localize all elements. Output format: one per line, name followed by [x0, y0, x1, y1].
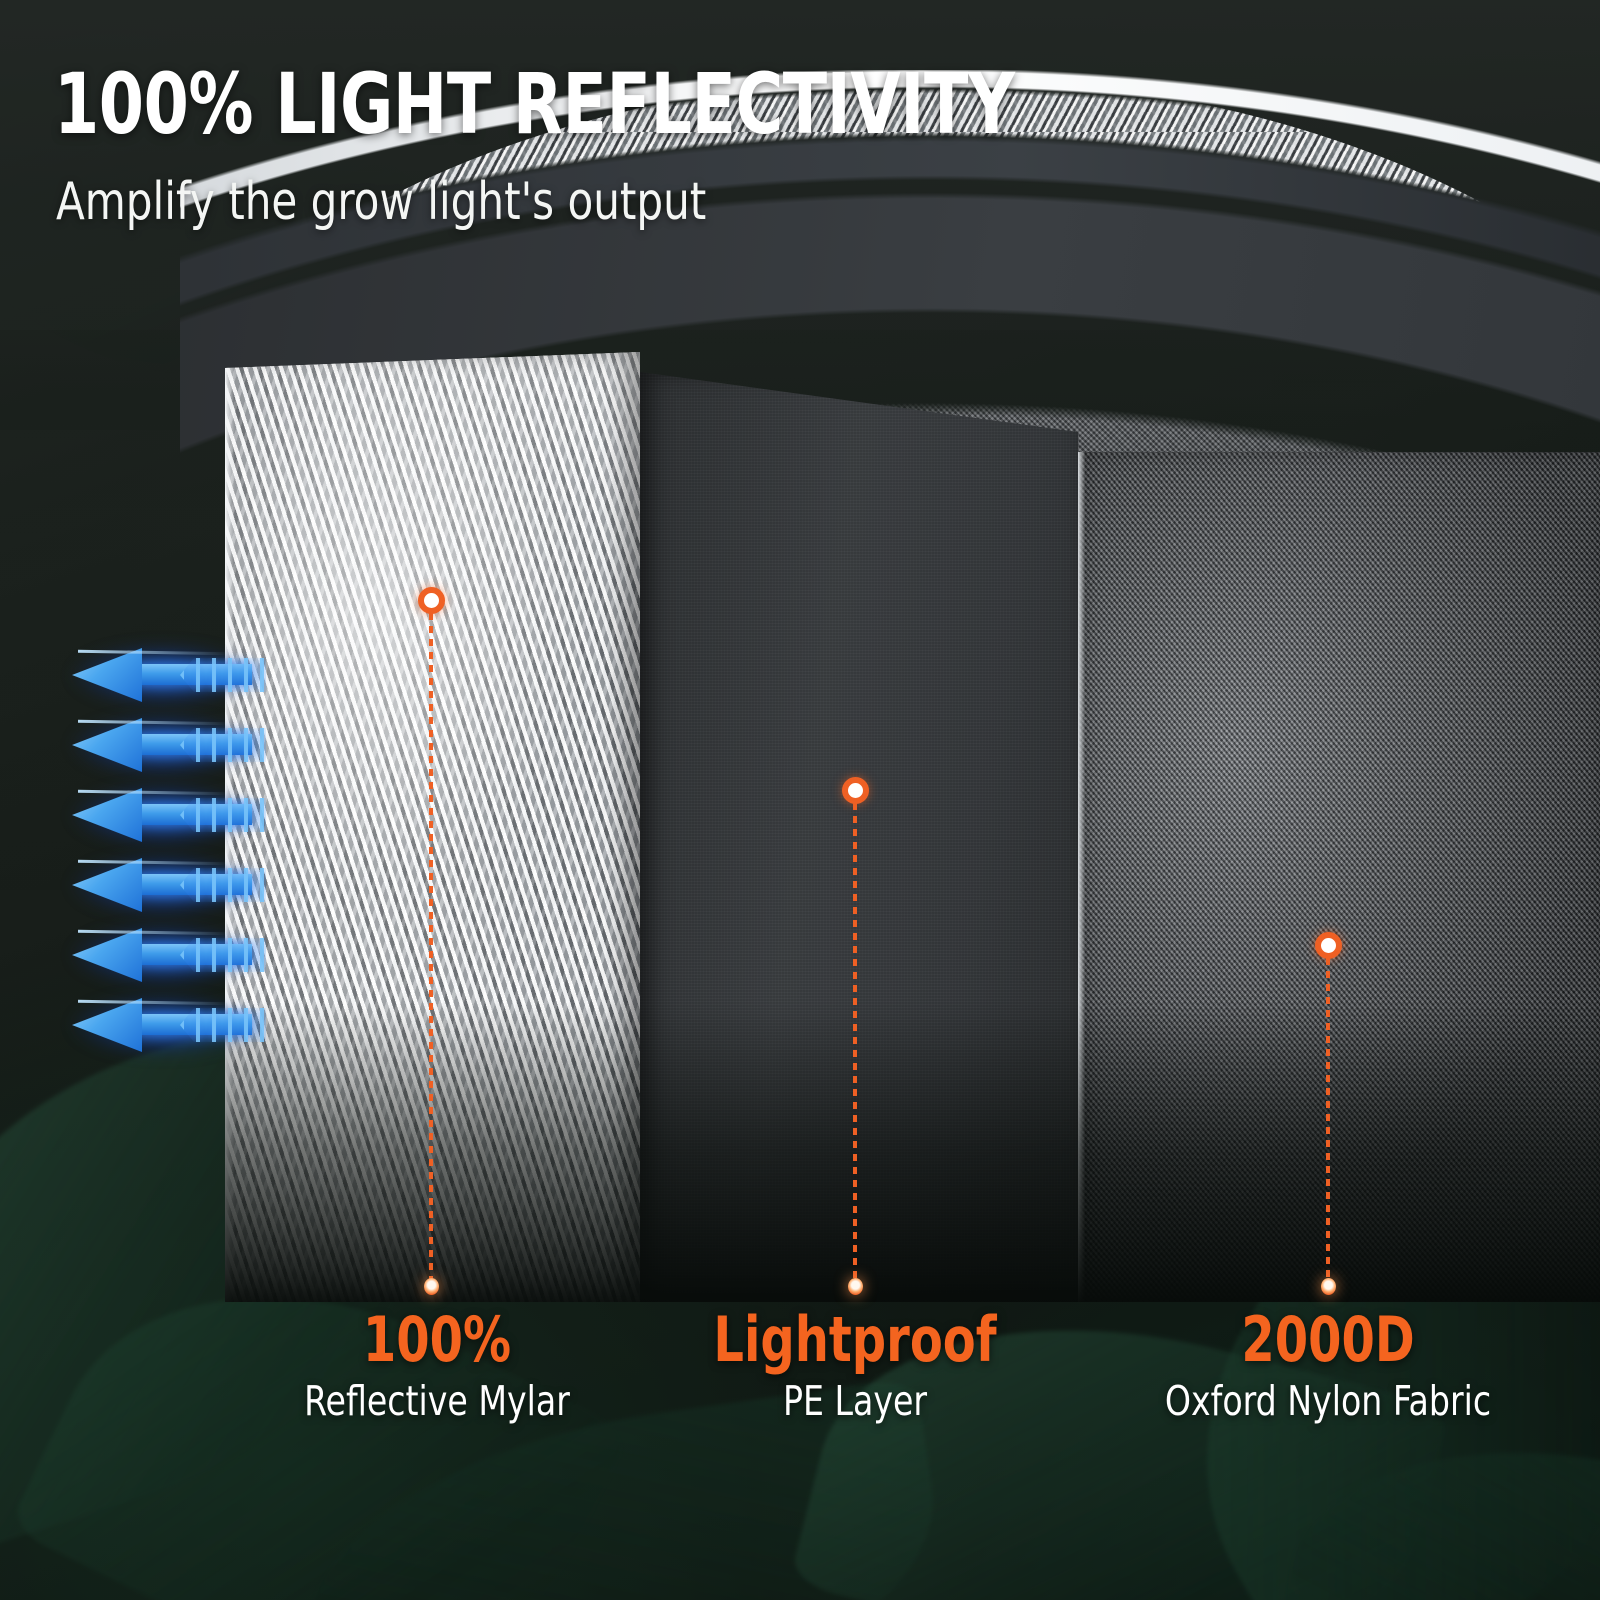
arrow-tail-chevrons — [180, 1008, 266, 1042]
callout-line-reflective-mylar — [429, 600, 433, 1290]
callout-endpoint-oxford-nylon — [1321, 1278, 1336, 1295]
reflected-light-arrow — [72, 785, 262, 845]
layer-caption-oxford-nylon: 2000D Oxford Nylon Fabric — [1103, 1308, 1553, 1424]
layer-caption-subtitle: Reflective Mylar — [257, 1380, 617, 1423]
nylon-bottom-fade — [1078, 1002, 1600, 1302]
callout-endpoint-reflective-mylar — [424, 1278, 439, 1295]
callout-marker-oxford-nylon[interactable] — [1315, 932, 1342, 959]
callout-line-pe — [853, 790, 857, 1290]
reflected-light-arrow — [72, 995, 262, 1055]
layer-caption-title: 100% — [265, 1308, 609, 1372]
product-infographic: 100% LIGHT REFLECTIVITY Amplify the grow… — [0, 0, 1600, 1600]
layer-caption-title: 2000D — [1135, 1308, 1522, 1372]
layer-caption-subtitle: PE Layer — [675, 1380, 1035, 1423]
callout-marker-pe[interactable] — [842, 777, 869, 804]
reflected-light-arrow — [72, 645, 262, 705]
arrow-tail-chevrons — [180, 868, 266, 902]
layer-caption-pe: Lightproof PE Layer — [655, 1308, 1055, 1424]
page-title: 100% LIGHT REFLECTIVITY — [54, 62, 1014, 146]
callout-endpoint-pe — [848, 1278, 863, 1295]
arrow-tail-chevrons — [180, 728, 266, 762]
layer-panel-oxford-nylon — [1078, 452, 1600, 1302]
layer-caption-subtitle: Oxford Nylon Fabric — [1126, 1380, 1531, 1423]
reflected-light-arrow — [72, 855, 262, 915]
layer-panel-pe — [640, 372, 1078, 1302]
layer-caption-title: Lightproof — [683, 1308, 1027, 1372]
reflected-light-arrow — [72, 715, 262, 775]
layer-caption-reflective-mylar: 100% Reflective Mylar — [237, 1308, 637, 1424]
arrow-tail-chevrons — [180, 798, 266, 832]
arrow-tail-chevrons — [180, 658, 266, 692]
callout-marker-reflective-mylar[interactable] — [418, 587, 445, 614]
arrow-tail-chevrons — [180, 938, 266, 972]
page-subtitle: Amplify the grow light's output — [56, 176, 706, 228]
reflected-light-arrow — [72, 925, 262, 985]
pe-bottom-fade — [640, 1002, 1078, 1302]
callout-line-oxford-nylon — [1326, 945, 1330, 1290]
